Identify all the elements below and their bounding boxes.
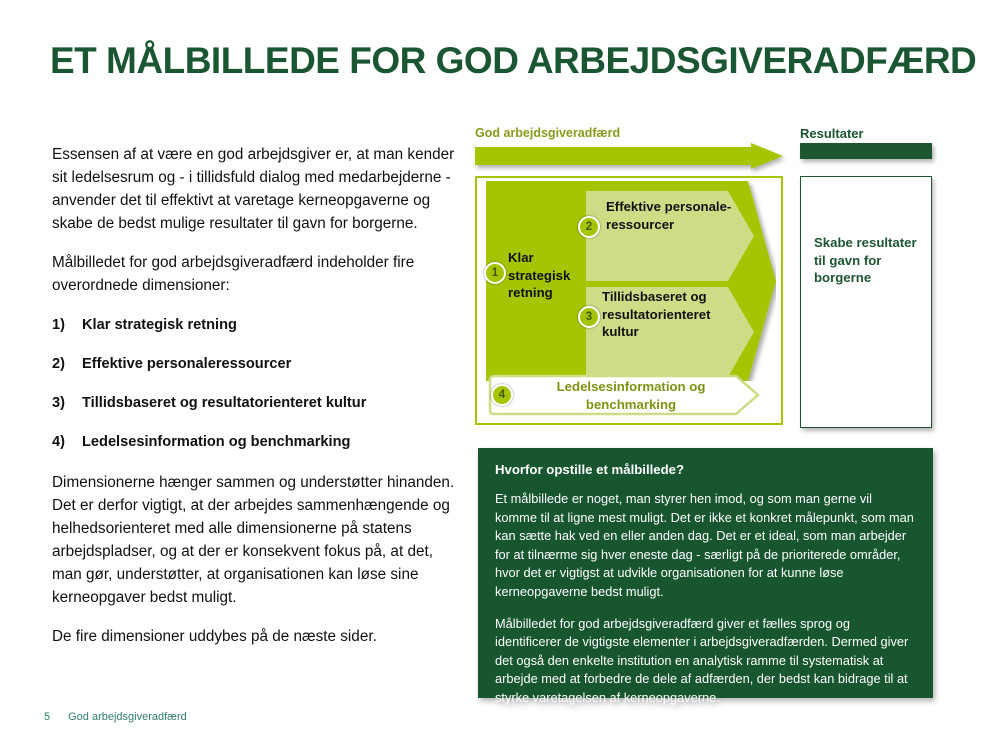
list-item-label: Tillidsbaseret og resultatorienteret kul…: [82, 393, 366, 413]
footer: 5 God arbejdsgiveradfærd: [44, 711, 187, 723]
step-number-2: 2: [578, 216, 600, 238]
info-paragraph-2: Målbilledet for god arbejdsgiveradfærd g…: [495, 615, 916, 708]
lime-arrow-bar-icon: [475, 143, 783, 169]
chevron-label-ledelsesinformation: Ledelsesinformation og benchmarking: [520, 378, 742, 413]
body-paragraph-3: Dimensionerne hænger sammen og understøt…: [52, 471, 462, 609]
list-item-number: 2): [52, 354, 72, 374]
body-paragraph-4: De fire dimensioner uddybes på de næste …: [52, 625, 462, 648]
dark-green-bar: [800, 143, 932, 159]
list-item-number: 1): [52, 315, 72, 335]
step-number-1: 1: [484, 262, 506, 284]
left-text-column: Essensen af at være en god arbejdsgiver …: [52, 143, 462, 664]
chevron-label-klar: Klar strategisk retning: [508, 249, 578, 302]
chevron-label-effektive: Effektive personale-ressourcer: [606, 198, 736, 233]
info-paragraph-1: Et målbillede er noget, man styrer hen i…: [495, 490, 916, 602]
diagram-label-right: Resultater: [800, 126, 864, 141]
info-heading: Hvorfor opstille et målbillede?: [495, 462, 916, 477]
intro-paragraph-1: Essensen af at være en god arbejdsgiver …: [52, 143, 462, 235]
list-item: 2) Effektive personaleressourcer: [52, 354, 462, 374]
chevron-label-tillidsbaseret: Tillidsbaseret og resultatorienteret kul…: [602, 288, 742, 341]
info-callout-box: Hvorfor opstille et målbillede? Et målbi…: [478, 448, 933, 698]
list-item-number: 4): [52, 432, 72, 452]
list-item-number: 3): [52, 393, 72, 413]
list-item-label: Effektive personaleressourcer: [82, 354, 291, 374]
step-number-4: 4: [491, 384, 513, 406]
list-item-label: Ledelsesinformation og benchmarking: [82, 432, 350, 452]
list-item: 1) Klar strategisk retning: [52, 315, 462, 335]
list-item: 3) Tillidsbaseret og resultatorienteret …: [52, 393, 462, 413]
list-item-label: Klar strategisk retning: [82, 315, 237, 335]
results-box: Skabe resultater til gavn for borgerne: [800, 176, 932, 428]
intro-paragraph-2: Målbilledet for god arbejdsgiveradfærd i…: [52, 251, 462, 297]
dimension-list: 1) Klar strategisk retning 2) Effektive …: [52, 315, 462, 452]
footer-label: God arbejdsgiveradfærd: [68, 711, 187, 723]
page-number: 5: [44, 711, 50, 723]
diagram-label-left: God arbejdsgiveradfærd: [475, 126, 620, 140]
results-text: Skabe resultater til gavn for borgerne: [814, 234, 924, 287]
list-item: 4) Ledelsesinformation og benchmarking: [52, 432, 462, 452]
step-number-3: 3: [578, 306, 600, 328]
page-title: ET MÅLBILLEDE FOR GOD ARBEJDSGIVERADFÆRD: [50, 40, 950, 82]
slide-canvas: ET MÅLBILLEDE FOR GOD ARBEJDSGIVERADFÆRD…: [0, 0, 1000, 750]
